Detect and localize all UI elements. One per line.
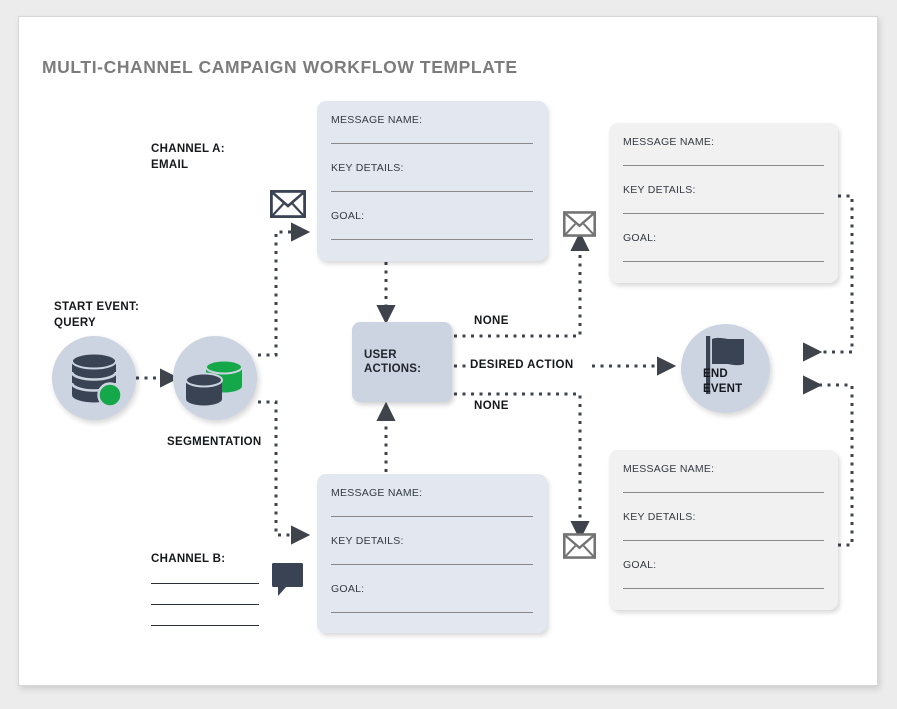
start-event-label-line2: QUERY bbox=[54, 315, 139, 331]
card-field-message-name: MESSAGE NAME: bbox=[331, 487, 533, 517]
card-field-key-details: KEY DETAILS: bbox=[331, 162, 533, 192]
card-rule-message-name[interactable] bbox=[331, 143, 533, 144]
edge-label-none-bottom: NONE bbox=[474, 400, 509, 412]
end-event-label-line2: EVENT bbox=[703, 382, 742, 397]
envelope-icon bbox=[270, 190, 306, 223]
user-actions-label: USER ACTIONS: bbox=[364, 348, 421, 376]
card-field-goal: GOAL: bbox=[331, 583, 533, 613]
card-channel-b-message[interactable]: MESSAGE NAME: KEY DETAILS: GOAL: bbox=[317, 474, 547, 633]
card-rule-message-name[interactable] bbox=[623, 165, 824, 166]
card-followup-bottom[interactable]: MESSAGE NAME: KEY DETAILS: GOAL: bbox=[609, 450, 838, 610]
card-field-message-name: MESSAGE NAME: bbox=[623, 136, 824, 166]
card-field-goal: GOAL: bbox=[331, 210, 533, 240]
speech-bubble-icon bbox=[272, 563, 304, 602]
card-field-goal: GOAL: bbox=[623, 232, 824, 262]
segmentation-label: SEGMENTATION bbox=[167, 436, 262, 448]
edge-label-desired-action: DESIRED ACTION bbox=[470, 359, 574, 371]
channel-a-label-line1: CHANNEL A: bbox=[151, 141, 225, 157]
user-actions-label-line1: USER bbox=[364, 348, 421, 362]
card-rule-key-details[interactable] bbox=[623, 540, 824, 541]
card-field-message-name: MESSAGE NAME: bbox=[623, 463, 824, 493]
end-event-label-line1: END bbox=[703, 367, 742, 382]
envelope-icon bbox=[563, 211, 596, 242]
card-followup-top[interactable]: MESSAGE NAME: KEY DETAILS: GOAL: bbox=[609, 123, 838, 283]
database-icon bbox=[52, 336, 136, 420]
edge-label-none-top: NONE bbox=[474, 315, 509, 327]
segmentation-node[interactable] bbox=[173, 336, 257, 420]
page-title: MULTI-CHANNEL CAMPAIGN WORKFLOW TEMPLATE bbox=[42, 57, 518, 78]
card-rule-goal[interactable] bbox=[623, 588, 824, 589]
channel-a-label-line2: EMAIL bbox=[151, 157, 225, 173]
card-rule-key-details[interactable] bbox=[331, 191, 533, 192]
card-rule-message-name[interactable] bbox=[331, 516, 533, 517]
end-event-label: END EVENT bbox=[703, 367, 742, 397]
start-event-node[interactable] bbox=[52, 336, 136, 420]
card-rule-goal[interactable] bbox=[331, 239, 533, 240]
channel-a-label: CHANNEL A: EMAIL bbox=[151, 141, 225, 173]
card-rule-key-details[interactable] bbox=[331, 564, 533, 565]
user-actions-box[interactable]: USER ACTIONS: bbox=[352, 322, 452, 402]
card-field-key-details: KEY DETAILS: bbox=[331, 535, 533, 565]
segmentation-database-icon bbox=[173, 336, 257, 420]
card-rule-goal[interactable] bbox=[331, 612, 533, 613]
card-rule-message-name[interactable] bbox=[623, 492, 824, 493]
channel-b-blank-line-3[interactable] bbox=[151, 625, 259, 626]
envelope-icon bbox=[563, 533, 596, 564]
channel-b-blank-line-2[interactable] bbox=[151, 604, 259, 605]
user-actions-label-line2: ACTIONS: bbox=[364, 362, 421, 376]
card-rule-goal[interactable] bbox=[623, 261, 824, 262]
channel-b-blank-line-1[interactable] bbox=[151, 583, 259, 584]
workflow-diagram-page: MULTI-CHANNEL CAMPAIGN WORKFLOW TEMPLATE… bbox=[0, 0, 897, 709]
card-channel-a-message[interactable]: MESSAGE NAME: KEY DETAILS: GOAL: bbox=[317, 101, 547, 261]
start-event-label-line1: START EVENT: bbox=[54, 299, 139, 315]
channel-b-label: CHANNEL B: bbox=[151, 553, 225, 565]
start-event-label: START EVENT: QUERY bbox=[54, 299, 139, 331]
card-field-key-details: KEY DETAILS: bbox=[623, 511, 824, 541]
card-rule-key-details[interactable] bbox=[623, 213, 824, 214]
card-field-key-details: KEY DETAILS: bbox=[623, 184, 824, 214]
card-field-goal: GOAL: bbox=[623, 559, 824, 589]
card-field-message-name: MESSAGE NAME: bbox=[331, 114, 533, 144]
